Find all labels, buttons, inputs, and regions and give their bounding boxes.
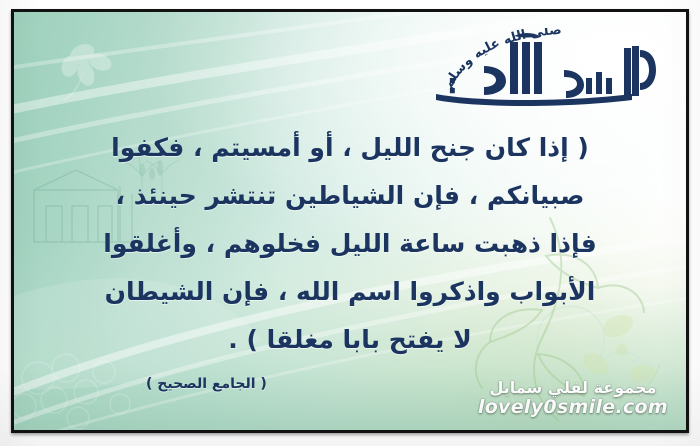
- hadith-source-attribution: ( الجامع الصحيح ): [146, 376, 267, 392]
- hadith-line: فإذا ذهبت ساعة الليل فخلوهم ، وأغلقوا: [32, 220, 668, 268]
- hadith-line: لا يفتح بابا مغلقا ) .: [32, 316, 668, 364]
- floral-flourish-icon: [42, 26, 152, 136]
- hadith-line: الأبواب واذكروا اسم الله ، فإن الشيطان: [32, 268, 668, 316]
- site-watermark-arabic: مجموعة لفلي سمايل: [478, 380, 668, 397]
- hadith-line: ( إذا كان جنح الليل ، أو أمسيتم ، فكفوا: [32, 124, 668, 172]
- header-colon: :: [447, 70, 458, 98]
- site-watermark: مجموعة لفلي سمايل lovely0smile.com: [478, 380, 668, 418]
- hadith-line: صبيانكم ، فإن الشياطين تنتشر حينئذ ،: [32, 172, 668, 220]
- hadith-text-block: ( إذا كان جنح الليل ، أو أمسيتم ، فكفوا …: [32, 124, 668, 364]
- card-frame: صلى الله عليه وسلم: [11, 9, 689, 433]
- site-watermark-url: lovely0smile.com: [478, 398, 668, 418]
- card-outer-mat: صلى الله عليه وسلم: [0, 0, 700, 446]
